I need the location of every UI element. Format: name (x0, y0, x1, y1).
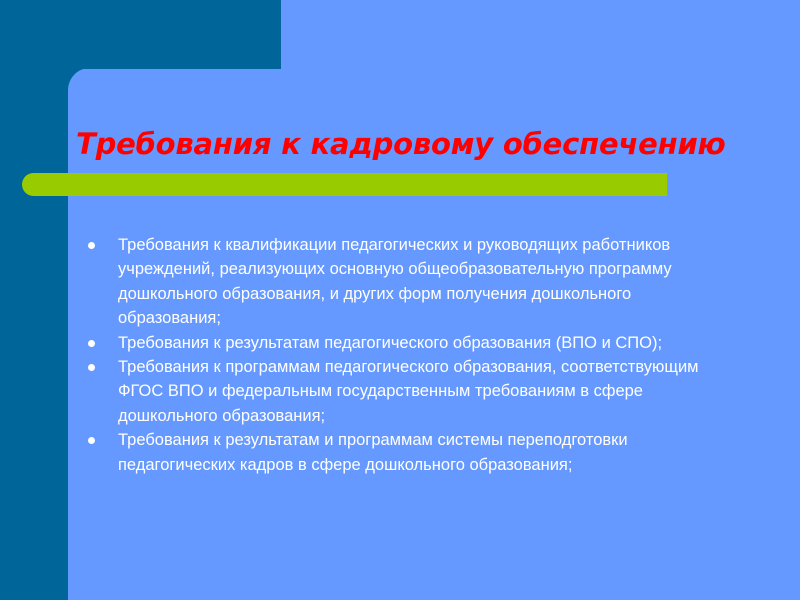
bullet-dot-icon (88, 437, 95, 444)
list-item-text: Требования к результатам педагогического… (118, 334, 662, 352)
slide-title: Требования к кадровому обеспечению (76, 126, 776, 162)
list-item: Требования к результатам педагогического… (84, 331, 734, 355)
list-item-text: Требования к программам педагогического … (118, 358, 699, 425)
list-item-text: Требования к результатам и программам си… (118, 431, 628, 473)
slide-bullet-list: Требования к квалификации педагогических… (84, 233, 734, 477)
bullet-dot-icon (88, 242, 95, 249)
list-item: Требования к квалификации педагогических… (84, 233, 734, 331)
bullet-dot-icon (88, 340, 95, 347)
bullet-dot-icon (88, 364, 95, 371)
list-item: Требования к программам педагогического … (84, 355, 734, 428)
top-left-accent-block (0, 0, 281, 69)
list-item: Требования к результатам и программам си… (84, 428, 734, 477)
presentation-slide: Требования к кадровому обеспечению Требо… (0, 0, 800, 600)
top-right-background-fill (281, 0, 800, 69)
green-accent-bar (22, 173, 667, 196)
list-item-text: Требования к квалификации педагогических… (118, 236, 672, 327)
